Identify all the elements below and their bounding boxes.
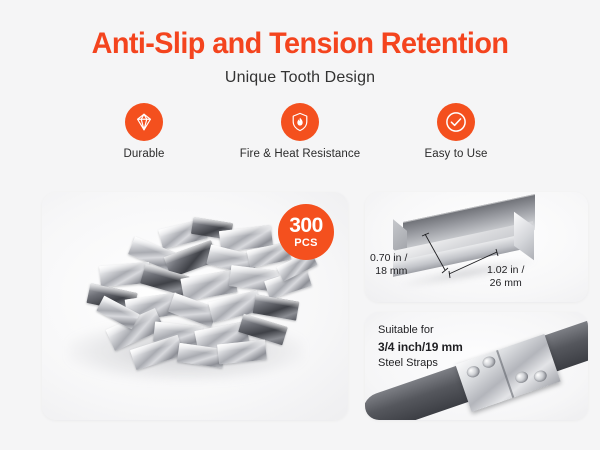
feature-label: Easy to Use bbox=[424, 148, 487, 160]
product-photo-card: 300 PCS bbox=[42, 192, 348, 420]
feature-list: Durable Fire & Heat Resistance Easy to U… bbox=[0, 103, 600, 160]
strap-caption-size: 3/4 inch/19 mm bbox=[378, 339, 463, 356]
badge-unit: PCS bbox=[294, 238, 318, 249]
strap-caption-line3: Steel Straps bbox=[378, 356, 463, 372]
page-title: Anti-Slip and Tension Retention bbox=[12, 28, 588, 60]
dimension-width-inch: 1.02 in / bbox=[487, 264, 524, 276]
header: Anti-Slip and Tension Retention Unique T… bbox=[0, 0, 600, 87]
right-column: 0.70 in / 18 mm 1.02 in / 26 mm Suitable… bbox=[365, 192, 588, 420]
dimension-width-mm: 26 mm bbox=[490, 277, 522, 289]
page-subtitle: Unique Tooth Design bbox=[0, 69, 600, 87]
panel-row: 300 PCS bbox=[42, 192, 588, 420]
feature-label: Fire & Heat Resistance bbox=[240, 148, 360, 160]
feature-item-easy-to-use: Easy to Use bbox=[391, 103, 521, 160]
check-circle-icon bbox=[437, 103, 475, 141]
strap-caption: Suitable for 3/4 inch/19 mm Steel Straps bbox=[378, 323, 463, 371]
dimension-width-label: 1.02 in / 26 mm bbox=[487, 264, 524, 290]
dimensions-card: 0.70 in / 18 mm 1.02 in / 26 mm bbox=[365, 192, 588, 302]
dimension-height-label: 0.70 in / 18 mm bbox=[370, 252, 407, 278]
strap-compatibility-card: Suitable for 3/4 inch/19 mm Steel Straps bbox=[365, 312, 588, 420]
dimension-height-mm: 18 mm bbox=[375, 265, 407, 277]
feature-label: Durable bbox=[124, 148, 165, 160]
badge-number: 300 bbox=[289, 215, 323, 236]
feature-item-durable: Durable bbox=[79, 103, 209, 160]
feature-item-fire-heat: Fire & Heat Resistance bbox=[235, 103, 365, 160]
fire-shield-icon bbox=[281, 103, 319, 141]
dimension-height-inch: 0.70 in / bbox=[370, 252, 407, 264]
diamond-icon bbox=[125, 103, 163, 141]
strap-caption-line1: Suitable for bbox=[378, 323, 463, 339]
crimped-seal-photo bbox=[455, 334, 560, 412]
quantity-badge: 300 PCS bbox=[278, 204, 334, 260]
